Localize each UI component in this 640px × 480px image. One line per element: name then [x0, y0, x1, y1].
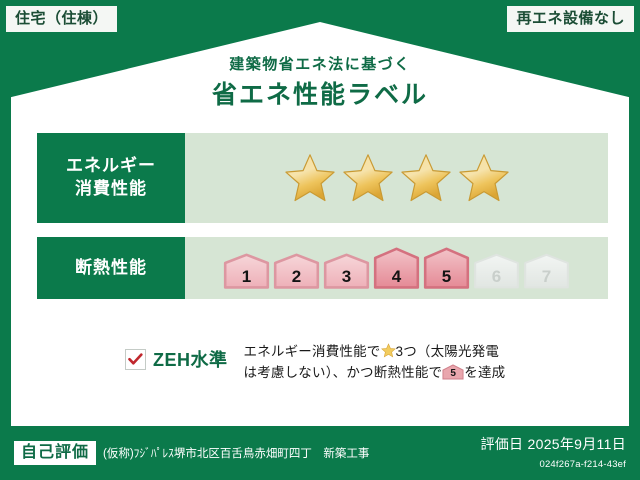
- title-block: 建築物省エネ法に基づく 省エネ性能ラベル: [0, 56, 640, 110]
- star-icon-inline: [381, 343, 396, 358]
- check-icon: [128, 353, 143, 366]
- energy-saving-performance-label: 住宅（住棟） 再エネ設備なし 建築物省エネ法に基づく 省エネ性能ラベル エネルギ…: [0, 0, 640, 480]
- insulation-performance-value: 1234567: [185, 237, 608, 299]
- evaluation-id: 024f267a-f214-43ef: [539, 459, 626, 470]
- grade-badge-inline-number: 5: [442, 369, 464, 379]
- insulation-grade-1: 1: [223, 253, 270, 289]
- insulation-grade-7: 7: [523, 253, 570, 289]
- zeh-desc-1b: 3つ（太陽光発電: [396, 344, 500, 359]
- zeh-description-line-2: は考慮しない）、かつ断熱性能で 5 を達成: [244, 363, 506, 384]
- title-subtitle: 建築物省エネ法に基づく: [0, 56, 640, 74]
- zeh-description: エネルギー消費性能で 3つ（太陽光発電 は考慮しない）、かつ断熱性能で 5 を達…: [244, 336, 506, 384]
- energy-label-line-1: エネルギー: [66, 155, 156, 178]
- insulation-grade-4: 4: [373, 247, 420, 289]
- insulation-grade-number: 5: [423, 268, 470, 285]
- zeh-desc-1a: エネルギー消費性能で: [244, 344, 381, 359]
- grade-badge-inline: 5: [442, 364, 464, 380]
- zeh-label: ZEH水準: [153, 346, 228, 372]
- insulation-grade-5: 5: [423, 247, 470, 289]
- insulation-performance-panel: 断熱性能 1234567: [37, 237, 608, 299]
- star-icon: [283, 152, 337, 204]
- star-rating: [283, 152, 511, 204]
- property-name: (仮称)ﾌｼﾞﾊﾟﾚｽ堺市北区百舌鳥赤畑町四丁 新築工事: [103, 445, 480, 461]
- zeh-desc-2a: は考慮しない）、かつ断熱性能で: [244, 365, 443, 380]
- insulation-grade-number: 2: [273, 268, 320, 285]
- insulation-grade-number: 3: [323, 268, 370, 285]
- self-evaluation-badge: 自己評価: [14, 441, 96, 466]
- evaluation-date: 評価日 2025年9月11日: [480, 436, 626, 452]
- evaluation-info: 評価日 2025年9月11日 024f267a-f214-43ef: [480, 434, 626, 472]
- renewable-energy-tag: 再エネ設備なし: [507, 6, 634, 32]
- star-icon: [457, 152, 511, 204]
- insulation-grade-number: 1: [223, 268, 270, 285]
- zeh-checkbox[interactable]: [125, 349, 146, 370]
- footer-bar: 自己評価 (仮称)ﾌｼﾞﾊﾟﾚｽ堺市北区百舌鳥赤畑町四丁 新築工事 評価日 20…: [0, 426, 640, 480]
- insulation-grade-scale: 1234567: [223, 247, 570, 289]
- insulation-label-text: 断熱性能: [75, 257, 147, 280]
- star-icon: [399, 152, 453, 204]
- energy-label-line-2: 消費性能: [75, 178, 147, 201]
- insulation-grade-6: 6: [473, 253, 520, 289]
- energy-performance-panel: エネルギー 消費性能: [37, 133, 608, 223]
- energy-performance-label: エネルギー 消費性能: [37, 133, 185, 223]
- page-title: 省エネ性能ラベル: [0, 80, 640, 110]
- zeh-badge: ZEH水準: [37, 336, 228, 372]
- building-type-tag: 住宅（住棟）: [6, 6, 117, 32]
- insulation-grade-3: 3: [323, 253, 370, 289]
- star-icon: [341, 152, 395, 204]
- insulation-grade-number: 4: [373, 268, 420, 285]
- insulation-grade-number: 6: [473, 268, 520, 285]
- insulation-grade-number: 7: [523, 268, 570, 285]
- zeh-description-line-1: エネルギー消費性能で 3つ（太陽光発電: [244, 342, 506, 363]
- energy-performance-value: [185, 133, 608, 223]
- zeh-standard-row: ZEH水準 エネルギー消費性能で 3つ（太陽光発電 は考慮しない）、かつ断熱性能…: [37, 336, 608, 384]
- insulation-grade-2: 2: [273, 253, 320, 289]
- insulation-performance-label: 断熱性能: [37, 237, 185, 299]
- zeh-desc-2b: を達成: [464, 365, 505, 380]
